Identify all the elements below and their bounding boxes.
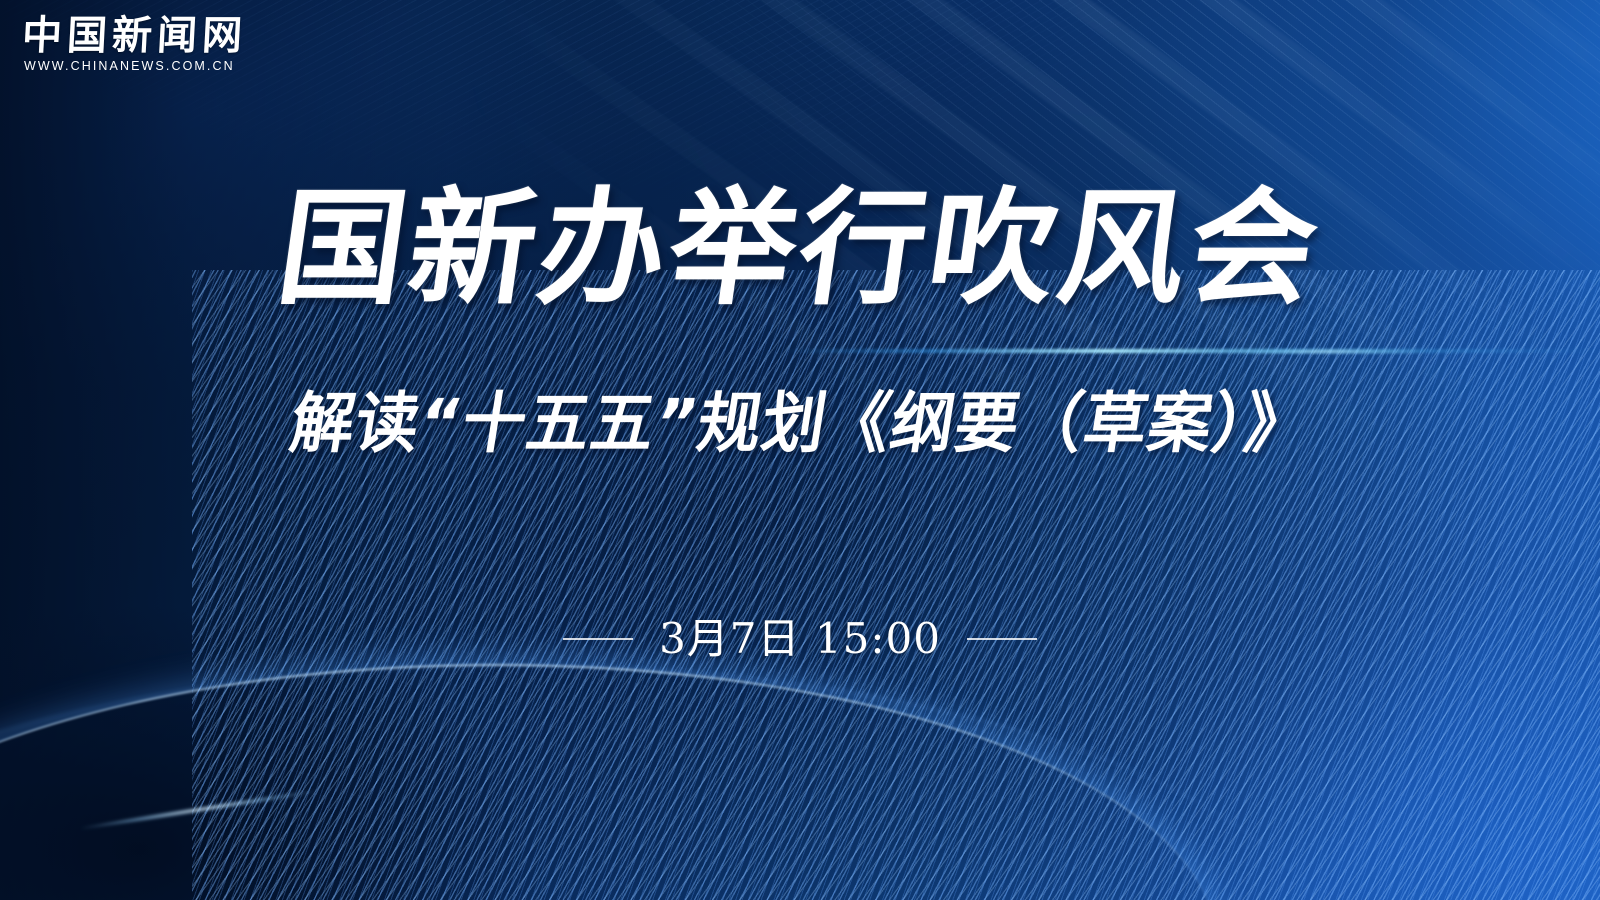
logo-chinese-text: 中国新闻网 — [21, 16, 248, 56]
page-subtitle: 解读“十五五”规划《纲要（草案）》 — [285, 388, 1315, 461]
date-time-row: 3月7日 15:00 — [0, 618, 1600, 660]
page-title: 国新办举行吹风会 — [270, 178, 1330, 319]
title-block: 国新办举行吹风会 — [0, 178, 1600, 319]
cyan-streak-decoration — [780, 349, 1600, 353]
date-time-text: 3月7日 15:00 — [659, 618, 941, 660]
poster-canvas: 中国新闻网 WWW.CHINANEWS.COM.CN 国新办举行吹风会 解读“十… — [0, 0, 1600, 900]
cyan-streak-highlight — [1230, 350, 1420, 353]
date-dash-left — [563, 638, 633, 640]
logo-url-text: WWW.CHINANEWS.COM.CN — [22, 60, 247, 73]
chinanews-logo: 中国新闻网 WWW.CHINANEWS.COM.CN — [22, 16, 247, 73]
subtitle-block: 解读“十五五”规划《纲要（草案）》 — [0, 388, 1600, 461]
date-dash-right — [967, 638, 1037, 640]
